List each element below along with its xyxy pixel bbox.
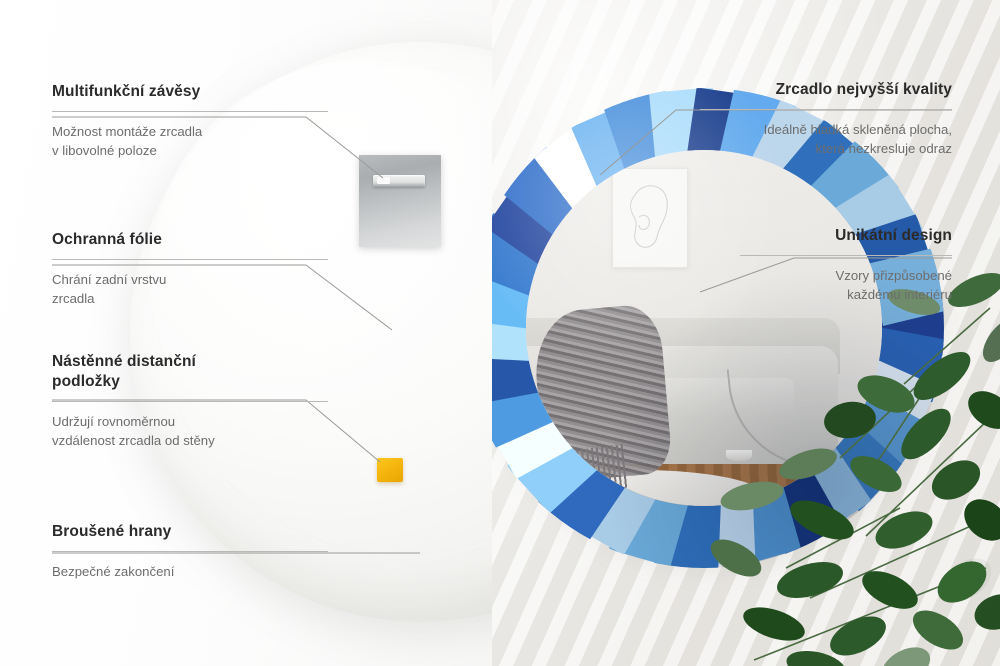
line-art-face-icon (613, 169, 687, 267)
callout-title: Ochranná fólie (52, 230, 328, 250)
callout-desc: Vzory přizpůsobenékaždému interiéru (740, 266, 952, 304)
hanger-plate-detail (359, 155, 441, 247)
product-infographic: Multifunkční závěsy Možnost montáže zrca… (0, 0, 1000, 666)
callout-rule (52, 401, 328, 402)
hanger-slot (373, 175, 425, 187)
callout-desc: Ideálně hladká skleněná plocha,která nez… (700, 120, 952, 158)
callout-rule (52, 111, 328, 112)
callout-rule (52, 259, 328, 260)
spacer-pad-detail (377, 458, 403, 482)
callout-unique-design: Unikátní design Vzory přizpůsobenékaždém… (740, 226, 952, 304)
callout-protective-film: Ochranná fólie Chrání zadní vrstvuzrcadl… (52, 230, 328, 308)
callout-desc: Bezpečné zakončení (52, 562, 328, 581)
callout-desc: Možnost montáže zrcadlav libovolné poloz… (52, 122, 328, 160)
callout-title: Broušené hrany (52, 522, 328, 542)
callout-title: Unikátní design (740, 226, 952, 246)
callout-multifunctional-hangers: Multifunkční závěsy Možnost montáže zrca… (52, 82, 328, 160)
callout-desc: Chrání zadní vrstvuzrcadla (52, 270, 328, 308)
reflection-wall-art (612, 168, 688, 268)
callout-ground-edges: Broušené hrany Bezpečné zakončení (52, 522, 328, 581)
callout-highest-quality-mirror: Zrcadlo nejvyšší kvality Ideálně hladká … (700, 80, 952, 158)
callout-desc: Udržují rovnoměrnouvzdálenost zrcadla od… (52, 412, 328, 450)
callout-rule (700, 109, 952, 110)
callout-title: Multifunkční závěsy (52, 82, 328, 102)
callout-rule (52, 551, 328, 552)
callout-title: Nástěnné distančnípodložky (52, 352, 328, 392)
foreground-foliage (690, 268, 1000, 666)
callout-rule (740, 255, 952, 256)
callout-title: Zrcadlo nejvyšší kvality (700, 80, 952, 100)
callout-wall-spacers: Nástěnné distančnípodložky Udržují rovno… (52, 352, 328, 450)
